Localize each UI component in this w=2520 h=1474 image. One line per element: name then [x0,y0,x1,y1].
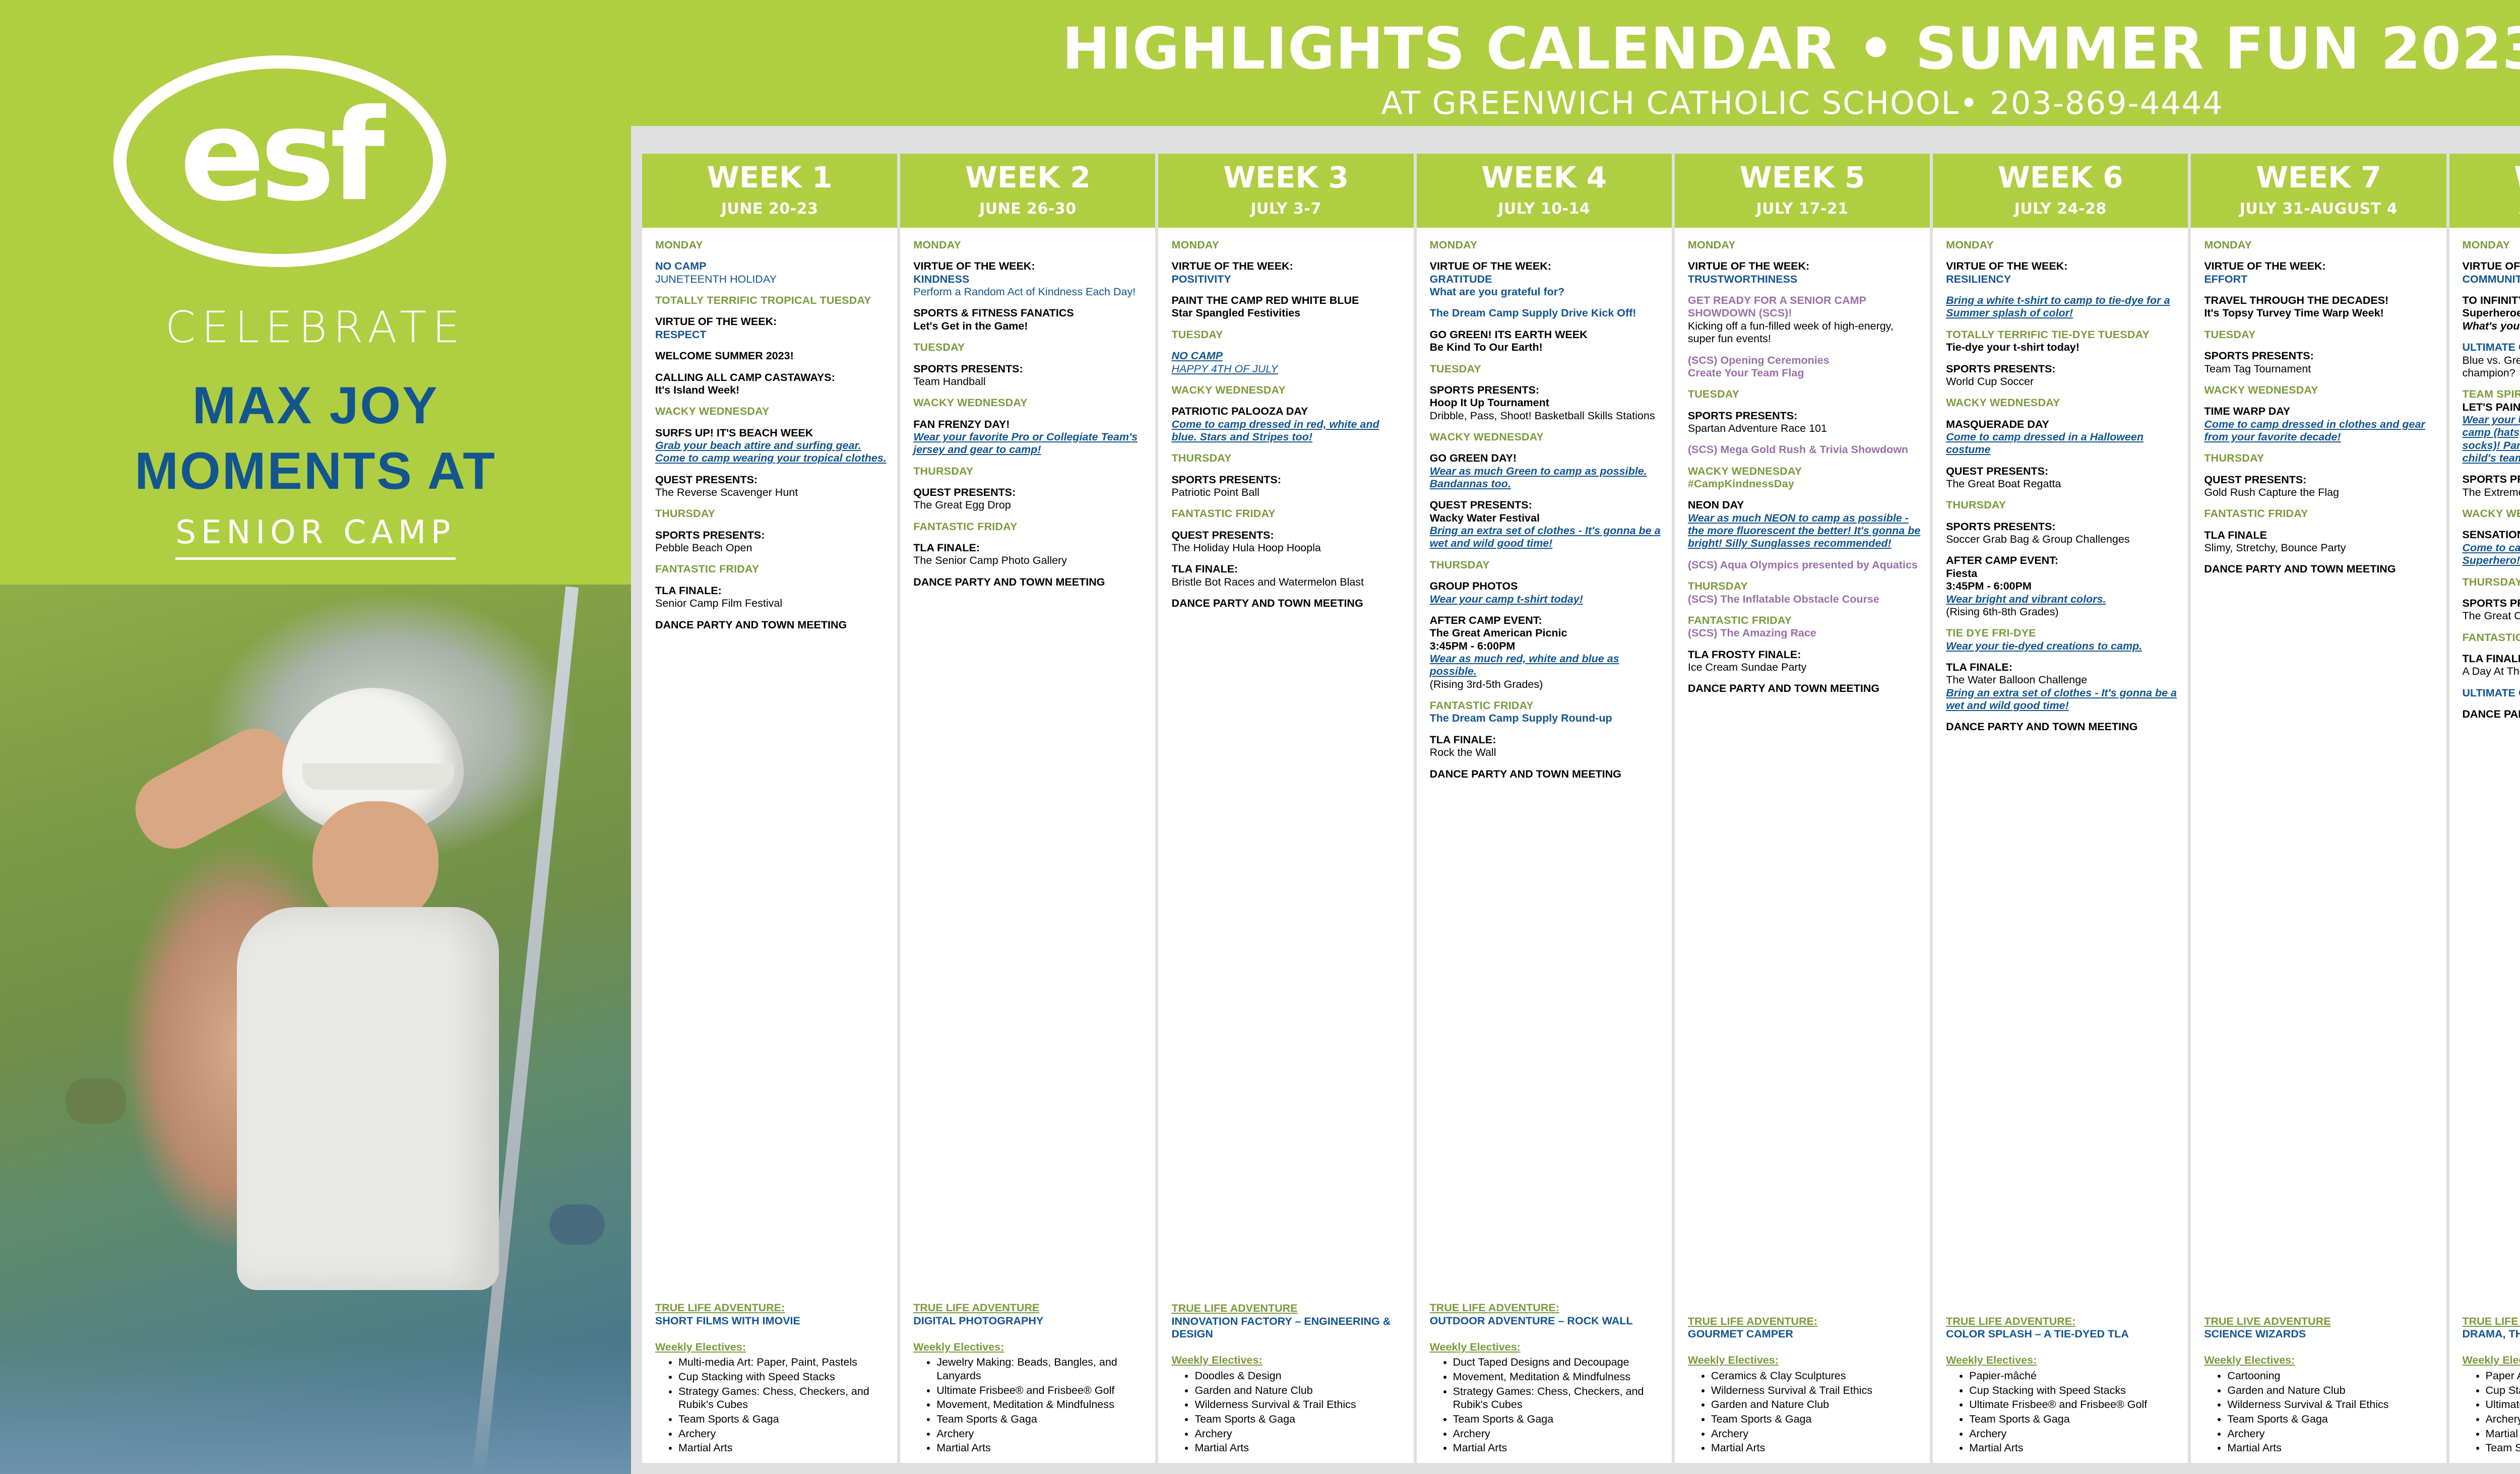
schedule-block: VIRTUE OF THE WEEK:KINDNESSPerform a Ran… [913,260,1146,298]
schedule-line: The Great Boat Regatta [1946,478,2179,490]
schedule-block: TOTALLY TERRIFIC TIE-DYE TUESDAYTie-dye … [1946,329,2179,354]
tla-name: SCIENCE WIZARDS [2204,1328,2437,1341]
elective-item: Martial Arts [1194,1441,1404,1455]
logo-wordmark: esf [113,55,446,267]
schedule-line: SPORTS PRESENTS: [1430,384,1663,397]
schedule-block: NO CAMPJUNETEENTH HOLIDAY [655,260,888,286]
elective-item: Ultimate Frisbee® and Frisbee® Golf [936,1384,1146,1397]
schedule-block: THURSDAY [1946,499,2179,511]
schedule-block: TUESDAY [1171,329,1404,341]
schedule-line: SPORTS PRESENTS: [1946,363,2179,375]
week-column: WEEK 3JULY 3-7MONDAYVIRTUE OF THE WEEK:P… [1158,154,1413,1463]
electives-list: Jewelry Making: Beads, Bangles, and Lany… [913,1356,1146,1455]
elective-item: Cup Stacking with Speed Stacks [1969,1384,2179,1397]
calendar-main: HIGHLIGHTS CALENDAR • SUMMER FUN 2023 AT… [631,0,2520,1474]
brand-panel: esf CELEBRATE MAX JOY MOMENTS AT SENIOR … [0,0,631,1474]
schedule-block: NO CAMPHAPPY 4TH OF JULY [1171,350,1404,375]
schedule-line: VIRTUE OF THE WEEK: [1946,260,2179,273]
schedule-block: TRAVEL THROUGH THE DECADES!It's Topsy Tu… [2204,294,2437,320]
tla-label: TRUE LIFE ADVENTURE: [1688,1315,1921,1328]
schedule-line: Wear your favorite Pro or Collegiate Tea… [913,431,1146,457]
schedule-line: The Water Balloon Challenge [1946,674,2179,686]
schedule-line: Come to camp dressed as your favorite Su… [2463,542,2520,567]
schedule-line: QUEST PRESENTS: [2204,474,2437,486]
schedule-line: MONDAY [1688,239,1921,251]
week-column: WEEK 8AUGUST 7-11MONDAYVIRTUE OF THE WEE… [2449,154,2520,1463]
elective-item: Team Sports & Gaga [1969,1413,2179,1426]
elective-item: Ceramics & Clay Sculptures [1711,1369,1921,1383]
schedule-line: MONDAY [1430,239,1663,251]
week-title: WEEK 3 [1160,163,1411,192]
schedule-line: World Cup Soccer [1946,375,2179,388]
schedule-line: DANCE PARTY AND TOWN MEETING [1688,682,1921,695]
week-dates: JULY 3-7 [1160,200,1411,218]
schedule-line: MASQUERADE DAY [1946,418,2179,431]
week-dates: JULY 17-21 [1677,200,1928,218]
week-body: MONDAYVIRTUE OF THE WEEK:RESILIENCYBring… [1933,228,2188,1315]
schedule-line: GRATITUDE [1430,273,1663,286]
schedule-block: THURSDAY [1171,452,1404,465]
schedule-line: TLA FINALE: [1430,734,1663,746]
electives-list: Ceramics & Clay SculpturesWilderness Sur… [1688,1369,1921,1455]
schedule-line: TOTALLY TERRIFIC TROPICAL TUESDAY [655,294,888,307]
schedule-line: DANCE PARTY AND TOWN MEETING [1430,768,1663,781]
true-life-adventure-section: TRUE LIFE ADVENTUREINNOVATION FACTORY – … [1158,1302,1413,1463]
week-title: WEEK 5 [1677,163,1928,192]
schedule-block: THURSDAY [655,507,888,520]
schedule-line: THURSDAY [1430,559,1663,571]
schedule-block: MONDAY [655,239,888,251]
schedule-line: Wear as much NEON to camp as possible - … [1688,512,1921,550]
week-title: WEEK 1 [644,163,895,192]
schedule-block: ULTIMATE GAMES KICK-OFF!Blue vs. Green: … [2463,341,2520,379]
elective-item: Cup Stacking with Speed Stacks [2486,1384,2520,1397]
electives-label: Weekly Electives: [2204,1354,2437,1367]
schedule-line: Team Tag Tournament [2204,363,2437,375]
page-subtitle: AT GREENWICH CATHOLIC SCHOOL• 203-869-44… [631,85,2520,121]
schedule-block: (SCS) Opening CeremoniesCreate Your Team… [1688,354,1921,380]
schedule-block: SPORTS PRESENTS:Soccer Grab Bag & Group … [1946,521,2179,546]
schedule-line: TLA FINALE: [655,585,888,597]
schedule-block: MONDAY [2463,239,2520,251]
week-dates: JUNE 20-23 [644,200,895,218]
schedule-line: Patriotic Point Ball [1171,486,1404,499]
schedule-line: DANCE PARTY AND TOWN MEETING [655,619,888,631]
schedule-line: FANTASTIC FRIDAY [655,563,888,575]
schedule-block: FANTASTIC FRIDAYThe Dream Camp Supply Ro… [1430,699,1663,725]
tla-name: DIGITAL PHOTOGRAPHY [913,1315,1146,1328]
week-header: WEEK 2JUNE 26-30 [900,154,1155,228]
schedule-block: GET READY FOR A SENIOR CAMP SHOWDOWN (SC… [1688,294,1921,345]
schedule-line: Bring an extra set of clothes - It's gon… [1430,525,1663,550]
schedule-block: (SCS) Aqua Olympics presented by Aquatic… [1688,559,1921,571]
schedule-line: WACKY WEDNESDAY [2204,384,2437,397]
schedule-block: SPORTS PRESENTS:The Great Camp Wide Rela… [2463,597,2520,623]
schedule-line: The Extreme Games [2463,486,2520,499]
schedule-line: MONDAY [913,239,1146,251]
week-title: WEEK 7 [2193,163,2444,192]
elective-item: Strategy Games: Chess, Checkers, and Rub… [1453,1385,1663,1412]
schedule-line: Star Spangled Festivities [1171,307,1404,319]
schedule-block: QUEST PRESENTS:The Holiday Hula Hoop Hoo… [1171,529,1404,555]
schedule-line: Slimy, Stretchy, Bounce Party [2204,542,2437,554]
schedule-line: SPORTS & FITNESS FANATICS [913,307,1146,319]
schedule-block: WACKY WEDNESDAY [2204,384,2437,397]
schedule-block: DANCE PARTY AND TOWN MEETING [1946,721,2179,733]
schedule-line: SPORTS PRESENTS: [655,529,888,542]
schedule-line: FANTASTIC FRIDAY [1430,699,1663,712]
schedule-line: Kicking off a fun-filled week of high-en… [1688,320,1921,346]
schedule-line: Come to camp dressed in a Halloween cost… [1946,431,2179,457]
schedule-line: Create Your Team Flag [1688,367,1921,379]
electives-list: Paper Art: Collage & OrigamiCup Stacking… [2463,1369,2520,1455]
electives-label: Weekly Electives: [1946,1354,2179,1367]
schedule-block: AFTER CAMP EVENT:The Great American Picn… [1430,614,1663,691]
schedule-line: Perform a Random Act of Kindness Each Da… [913,286,1146,298]
schedule-block: MONDAY [1946,239,2179,251]
elective-item: Martial Arts [2227,1441,2437,1455]
schedule-block: TLA FINALE:Bristle Bot Races and Waterme… [1171,563,1404,589]
electives-list: Papier-mâchéCup Stacking with Speed Stac… [1946,1369,2179,1455]
schedule-line: ULTIMATE GAMES CLOSING CEREMONIES! [2463,687,2520,699]
schedule-block: SPORTS PRESENTS:Patriotic Point Ball [1171,474,1404,499]
schedule-block: GO GREEN! ITS EARTH WEEKBe Kind To Our E… [1430,329,1663,354]
schedule-block: FANTASTIC FRIDAY [913,521,1146,533]
schedule-block: AFTER CAMP EVENT:Fiesta3:45PM - 6:00PMWe… [1946,554,2179,618]
schedule-block: WACKY WEDNESDAY#CampKindnessDay [1688,465,1921,491]
schedule-line: Let's Get in the Game! [913,320,1146,333]
celebrate-text: CELEBRATE [0,302,631,353]
schedule-line: Wacky Water Festival [1430,512,1663,525]
schedule-block: SURFS UP! IT'S BEACH WEEKGrab your beach… [655,427,888,465]
schedule-line: CALLING ALL CAMP CASTAWAYS: [655,371,888,384]
schedule-line: DANCE PARTY AND TOWN MEETING [913,576,1146,589]
schedule-line: SPORTS PRESENTS: [1688,410,1921,422]
schedule-block: WACKY WEDNESDAY [913,397,1146,409]
schedule-block: DANCE PARTY AND TOWN MEETING [2204,563,2437,575]
schedule-line: TOTALLY TERRIFIC TIE-DYE TUESDAY [1946,329,2179,341]
elective-item: Team Sports & Gaga [678,1413,888,1426]
tla-label: TRUE LIFE ADVENTURE [913,1302,1146,1315]
schedule-block: Bring a white t-shirt to camp to tie-dye… [1946,294,2179,320]
schedule-line: DANCE PARTY AND TOWN MEETING [2463,708,2520,721]
schedule-block: TLA FINALE:Rock the Wall [1430,734,1663,759]
elective-item: Archery [1194,1427,1404,1441]
schedule-line: PATRIOTIC PALOOZA DAY [1171,405,1404,418]
schedule-line: What are you grateful for? [1430,286,1663,298]
schedule-block: CALLING ALL CAMP CASTAWAYS:It's Island W… [655,371,888,397]
schedule-block: VIRTUE OF THE WEEK:RESPECT [655,315,888,341]
elective-item: Wilderness Survival & Trail Ethics [1711,1384,1921,1397]
week-body: MONDAYNO CAMPJUNETEENTH HOLIDAYTOTALLY T… [642,228,897,1302]
schedule-line: Senior Camp Film Festival [655,597,888,610]
schedule-line: VIRTUE OF THE WEEK: [655,315,888,328]
elective-item: Martial Arts [2486,1427,2520,1441]
elective-item: Cartooning [2227,1369,2437,1383]
schedule-block: TUESDAY [2204,329,2437,341]
schedule-block: VIRTUE OF THE WEEK:RESILIENCY [1946,260,2179,286]
schedule-block: TO INFINITY & BEYOND WEEK!Superheroes As… [2463,294,2520,333]
schedule-block: GROUP PHOTOSWear your camp t-shirt today… [1430,580,1663,606]
headline-line-1: MAX JOY [0,373,631,438]
schedule-line: The Great Camp Wide Relay! [2463,610,2520,622]
schedule-block: QUEST PRESENTS:Gold Rush Capture the Fla… [2204,474,2437,499]
schedule-block: SPORTS PRESENTS:Spartan Adventure Race 1… [1688,410,1921,435]
climber-torso [237,907,499,1290]
schedule-line: NO CAMP [655,260,888,273]
elective-item: Martial Arts [936,1441,1146,1455]
schedule-block: SPORTS PRESENTS:Pebble Beach Open [655,529,888,555]
schedule-block: MONDAY [1171,239,1404,251]
schedule-block: TLA FROSTY FINALE:Ice Cream Sundae Party [1688,649,1921,674]
schedule-line: WACKY WEDNESDAY [2463,507,2520,520]
schedule-block: TLA FINALE:Senior Camp Film Festival [655,585,888,610]
schedule-block: FANTASTIC FRIDAY(SCS) The Amazing Race [1688,614,1921,640]
schedule-block: VIRTUE OF THE WEEK:GRATITUDEWhat are you… [1430,260,1663,298]
schedule-line: The Senior Camp Photo Gallery [913,554,1146,567]
schedule-block: SPORTS PRESENTS:Team Tag Tournament [2204,350,2437,375]
schedule-block: VIRTUE OF THE WEEK:TRUSTWORTHINESS [1688,260,1921,286]
schedule-line: SPORTS PRESENTS: [2204,350,2437,362]
schedule-line: Dribble, Pass, Shoot! Basketball Skills … [1430,410,1663,422]
schedule-line: Come to camp dressed in clothes and gear… [2204,418,2437,444]
schedule-block: PATRIOTIC PALOOZA DAYCome to camp dresse… [1171,405,1404,443]
elective-item: Movement, Meditation & Mindfulness [936,1398,1146,1412]
schedule-line: SPORTS PRESENTS: [1946,521,2179,533]
elective-item: Papier-mâché [1969,1369,2179,1383]
week-dates: JUNE 26-30 [902,200,1153,218]
elective-item: Team Sports & Gaga [1711,1413,1921,1426]
schedule-line: QUEST PRESENTS: [1946,465,2179,478]
schedule-block: VIRTUE OF THE WEEK:POSITIVITY [1171,260,1404,286]
schedule-line: Bring an extra set of clothes - It's gon… [1946,687,2179,713]
schedule-block: TLA FINALE:The Senior Camp Photo Gallery [913,542,1146,567]
week-dates: JULY 31-AUGUST 4 [2193,200,2444,218]
elective-item: Paper Art: Collage & Origami [2486,1369,2520,1383]
true-life-adventure-section: TRUE LIFE ADVENTUREDIGITAL PHOTOGRAPHYWe… [900,1302,1155,1463]
schedule-block: DANCE PARTY AND TOWN MEETING [1430,768,1663,781]
elective-item: Martial Arts [1453,1441,1663,1455]
schedule-block: ULTIMATE GAMES CLOSING CEREMONIES! [2463,687,2520,699]
schedule-line: Grab your beach attire and surfing gear.… [655,439,888,465]
elective-item: Multi-media Art: Paper, Paint, Pastels [678,1356,888,1369]
schedule-line: VIRTUE OF THE WEEK: [1430,260,1663,273]
schedule-line: TO INFINITY & BEYOND WEEK! [2463,294,2520,307]
schedule-line: VIRTUE OF THE WEEK: [2204,260,2437,273]
schedule-block: WACKY WEDNESDAY [1946,397,2179,409]
headline-line-2: MOMENTS AT [0,438,631,504]
electives-list: Duct Taped Designs and DecoupageMovement… [1430,1356,1663,1455]
tla-name: COLOR SPLASH – A TIE-DYED TLA [1946,1328,2179,1341]
week-title: WEEK 2 [902,163,1153,192]
true-life-adventure-section: TRUE LIVE ADVENTURESCIENCE WIZARDSWeekly… [2191,1315,2446,1463]
schedule-block: TIE DYE FRI-DYEWear your tie-dyed creati… [1946,627,2179,653]
schedule-line: Be Kind To Our Earth! [1430,341,1663,354]
schedule-line: (Rising 6th-8th Grades) [1946,606,2179,618]
schedule-line: 3:45PM - 6:00PM [1430,640,1663,653]
elective-item: Cup Stacking with Speed Stacks [678,1370,888,1384]
schedule-block: WACKY WEDNESDAY [2463,507,2520,520]
schedule-line: Wear your tie-dyed creations to camp. [1946,640,2179,653]
tla-name: INNOVATION FACTORY – ENGINEERING & DESIG… [1171,1315,1404,1341]
elective-item: Strategy Games: Chess, Checkers, and Rub… [678,1385,888,1412]
schedule-line: (SCS) Mega Gold Rush & Trivia Showdown [1688,443,1921,456]
schedule-block: TUESDAY [913,341,1146,354]
week-title: WEEK 6 [1935,163,2186,192]
schedule-line: Wear your camp t-shirt today! [1430,593,1663,606]
schedule-block: TOTALLY TERRIFIC TROPICAL TUESDAY [655,294,888,307]
climber-arm [123,716,305,861]
schedule-line: (SCS) The Amazing Race [1688,627,1921,639]
week-body: MONDAYVIRTUE OF THE WEEK:TRUSTWORTHINESS… [1675,228,1930,1315]
schedule-line: FANTASTIC FRIDAY [2204,507,2437,520]
tla-name: DRAMA, THEATER & IMPROV GAMES [2463,1328,2520,1341]
headline: MAX JOY MOMENTS AT [0,373,631,504]
schedule-line: Soccer Grab Bag & Group Challenges [1946,533,2179,546]
tla-label: TRUE LIFE ADVENTURE: [655,1302,888,1315]
schedule-line: MONDAY [1171,239,1404,251]
elective-item: Wilderness Survival & Trail Ethics [1194,1398,1404,1412]
electives-label: Weekly Electives: [1430,1341,1663,1354]
schedule-line: The Great Egg Drop [913,499,1146,511]
electives-label: Weekly Electives: [913,1341,1146,1354]
schedule-line: MONDAY [2463,239,2520,251]
elective-item: Doodles & Design [1194,1369,1404,1383]
schedule-line: Hoop It Up Tournament [1430,397,1663,409]
schedule-block: FANTASTIC FRIDAY [2204,507,2437,520]
schedule-line: MONDAY [1946,239,2179,251]
schedule-line: WACKY WEDNESDAY [913,397,1146,409]
schedule-line: GET READY FOR A SENIOR CAMP SHOWDOWN (SC… [1688,294,1921,320]
schedule-block: THURSDAY [913,465,1146,478]
schedule-line: FAN FRENZY DAY! [913,418,1146,431]
elective-item: Movement, Meditation & Mindfulness [1453,1370,1663,1384]
schedule-block: THURSDAY [2204,452,2437,465]
schedule-line: TUESDAY [1688,388,1921,401]
climbing-hold [66,1078,126,1124]
elective-item: Team Sports & Gaga [936,1413,1146,1426]
schedule-line: LET'S PAINT THE CAMP BLUE AND GREEN! [2463,401,2520,414]
week-header: WEEK 5JULY 17-21 [1675,154,1930,228]
schedule-line: QUEST PRESENTS: [913,486,1146,499]
schedule-line: Wear as much red, white and blue as poss… [1430,653,1663,678]
schedule-line: HAPPY 4TH OF JULY [1171,363,1404,375]
schedule-line: The Reverse Scavenger Hunt [655,486,888,499]
schedule-line: GO GREEN! ITS EARTH WEEK [1430,329,1663,341]
schedule-line: QUEST PRESENTS: [1430,499,1663,511]
elective-item: Team Sports & Gaga [1453,1413,1663,1426]
schedule-line: FANTASTIC FRIDAY [913,521,1146,533]
schedule-line: TEAM SPIRIT TUESDAY [2463,388,2520,401]
schedule-block: TLA FINALE:The Water Balloon ChallengeBr… [1946,661,2179,712]
elective-item: Archery [678,1427,888,1441]
schedule-line: 3:45PM - 6:00PM [1946,580,2179,593]
schedule-line: THURSDAY [1946,499,2179,511]
schedule-block: WACKY WEDNESDAY [1430,431,1663,443]
true-life-adventure-section: TRUE LIFE ADVENTURE:COLOR SPLASH – A TIE… [1933,1315,2188,1463]
schedule-line: It's Island Week! [655,384,888,397]
electives-list: Doodles & DesignGarden and Nature ClubWi… [1171,1369,1404,1455]
schedule-block: WELCOME SUMMER 2023! [655,350,888,362]
schedule-line: POSITIVITY [1171,273,1404,286]
schedule-line: (SCS) The Inflatable Obstacle Course [1688,593,1921,606]
tla-label: TRUE LIFE ADVENTURE: [2463,1315,2520,1328]
schedule-block: SENSATIONAL SUPERHERO DAYCome to camp dr… [2463,529,2520,567]
schedule-block: VIRTUE OF THE WEEK:EFFORT [2204,260,2437,286]
schedule-line: RESILIENCY [1946,273,2179,286]
schedule-line: JUNETEENTH HOLIDAY [655,273,888,286]
schedule-line: TRUSTWORTHINESS [1688,273,1921,286]
camp-name: SENIOR CAMP [0,514,631,551]
schedule-line: What's your Super Power? [2463,320,2520,333]
schedule-line: It's Topsy Turvey Time Warp Week! [2204,307,2437,319]
schedule-line: THURSDAY [2204,452,2437,465]
schedule-line: AFTER CAMP EVENT: [1946,554,2179,567]
schedule-block: THURSDAY [1430,559,1663,571]
week-body: MONDAYVIRTUE OF THE WEEK:GRATITUDEWhat a… [1417,228,1672,1302]
schedule-line: #CampKindnessDay [1688,478,1921,490]
week-column: WEEK 1JUNE 20-23MONDAYNO CAMPJUNETEENTH … [642,154,897,1463]
schedule-line: DANCE PARTY AND TOWN MEETING [1171,597,1404,610]
schedule-block: FANTASTIC FRIDAY [1171,507,1404,520]
schedule-line: TUESDAY [913,341,1146,354]
elective-item: Garden and Nature Club [1711,1398,1921,1412]
schedule-line: SPORTS PRESENTS: [913,363,1146,375]
schedule-line: WELCOME SUMMER 2023! [655,350,888,362]
schedule-line: WACKY WEDNESDAY [1171,384,1404,397]
week-header: WEEK 4JULY 10-14 [1417,154,1672,228]
schedule-line: RESPECT [655,329,888,341]
week-header: WEEK 6JULY 24-28 [1933,154,2188,228]
week-title: WEEK 8 [2451,163,2520,192]
week-column: WEEK 2JUNE 26-30MONDAYVIRTUE OF THE WEEK… [900,154,1155,1463]
schedule-block: WACKY WEDNESDAY [1171,384,1404,397]
schedule-block: DANCE PARTY AND TOWN MEETING [1171,597,1404,610]
schedule-line: TLA FINALE: [1946,661,2179,674]
schedule-line: KINDNESS [913,273,1146,286]
schedule-line: THURSDAY [913,465,1146,478]
schedule-block: QUEST PRESENTS:The Great Egg Drop [913,486,1146,512]
schedule-line: EFFORT [2204,273,2437,286]
schedule-line: NEON DAY [1688,499,1921,511]
elective-item: Martial Arts [678,1441,888,1455]
electives-list: CartooningGarden and Nature ClubWilderne… [2204,1369,2437,1455]
schedule-line: A Day At The Improv [2463,665,2520,678]
week-title: WEEK 4 [1419,163,1670,192]
elective-item: Jewelry Making: Beads, Bangles, and Lany… [936,1356,1146,1382]
climbing-hold [549,1204,605,1245]
schedule-line: FANTASTIC FRIDAY [1171,507,1404,520]
schedule-line: Pebble Beach Open [655,542,888,554]
schedule-block: MASQUERADE DAYCome to camp dressed in a … [1946,418,2179,457]
schedule-line: GROUP PHOTOS [1430,580,1663,593]
schedule-line: THURSDAY [655,507,888,520]
schedule-block: THURSDAY [2463,576,2520,589]
schedule-block: MONDAY [913,239,1146,251]
elective-item: Martial Arts [1711,1441,1921,1455]
schedule-block: TEAM SPIRIT TUESDAYLET'S PAINT THE CAMP … [2463,388,2520,465]
photo-gradient-overlay [0,1343,631,1474]
schedule-line: TLA FINALE [2204,529,2437,542]
schedule-block: FANTASTIC FRIDAY [655,563,888,575]
electives-label: Weekly Electives: [1171,1354,1404,1367]
schedule-line: TUESDAY [1171,329,1404,341]
schedule-line: Fiesta [1946,567,2179,580]
week-body: MONDAYVIRTUE OF THE WEEK:COMMUNITY & TEA… [2449,228,2520,1315]
elective-item: Team Sports & Gaga [1194,1413,1404,1426]
schedule-line: AFTER CAMP EVENT: [1430,614,1663,627]
schedule-line: Blue vs. Green: Who will be this year's … [2463,354,2520,380]
